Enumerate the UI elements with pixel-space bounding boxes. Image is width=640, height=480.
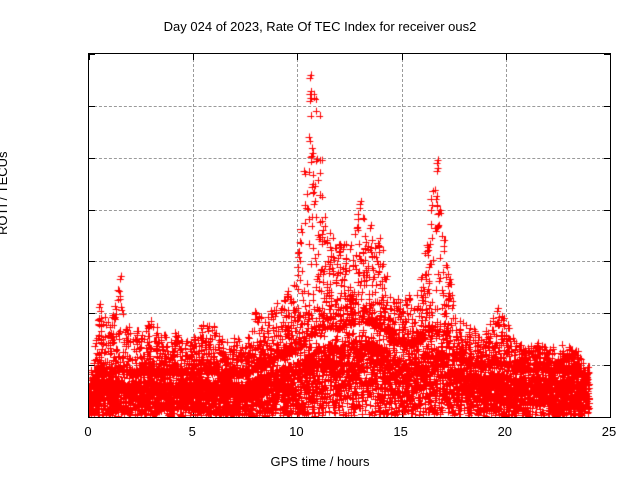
chart-page: Day 024 of 2023, Rate Of TEC Index for r… [0, 0, 640, 480]
y-tick-mark [89, 417, 95, 418]
y-axis-title: ROTI / TECUs [0, 151, 10, 235]
x-tick-mark-top [610, 54, 611, 60]
x-tick-label: 10 [289, 424, 303, 439]
page-title: Day 024 of 2023, Rate Of TEC Index for r… [0, 19, 640, 34]
x-tick-label: 25 [602, 424, 616, 439]
x-axis-title: GPS time / hours [0, 454, 640, 469]
x-tick-label: 15 [393, 424, 407, 439]
x-tick-label: 0 [84, 424, 91, 439]
x-tick-label: 5 [189, 424, 196, 439]
x-tick-label: 20 [498, 424, 512, 439]
plot-area [88, 53, 611, 418]
y-tick-mark-right [604, 417, 610, 418]
x-tick-mark [610, 411, 611, 417]
scatter-data-layer [89, 54, 610, 417]
